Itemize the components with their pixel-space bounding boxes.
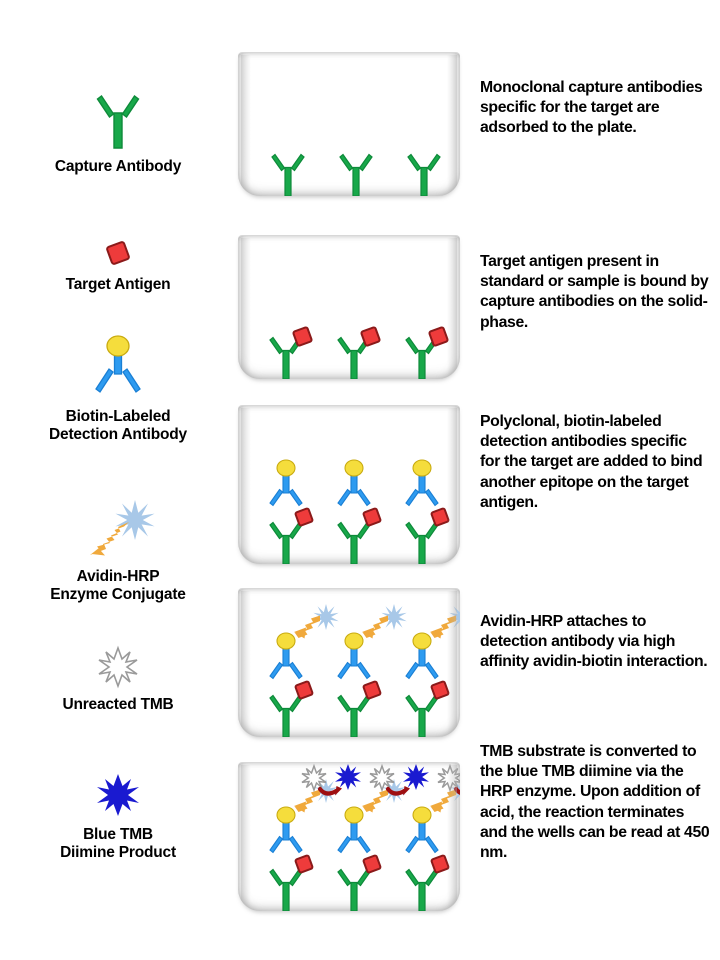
legend-item-capture-antibody: Capture Antibody xyxy=(0,78,236,176)
biotin-label-glyph xyxy=(277,460,295,476)
sandwich-complex-glyph xyxy=(256,444,326,564)
capture-antibody-icon xyxy=(0,78,236,152)
complex-tmb-3 xyxy=(388,763,460,911)
hrp-starburst-glyph xyxy=(116,500,155,540)
capture-antibody-glyph xyxy=(338,523,370,565)
biotin-label-glyph xyxy=(413,633,431,649)
biotin-label-glyph xyxy=(345,807,363,823)
legend-label-blue-tmb-diimine: Blue TMB Diimine Product xyxy=(0,826,236,862)
legend-item-blue-tmb-diimine: Blue TMB Diimine Product xyxy=(0,768,236,862)
avidin-arrow-glyph xyxy=(362,616,388,639)
well-step-4 xyxy=(238,588,460,737)
green-y-antibody-glyph xyxy=(88,88,148,152)
avidin-hrp-complex-glyph xyxy=(390,605,460,737)
well-step-1 xyxy=(238,52,460,196)
avidin-arrow-glyph xyxy=(362,790,388,813)
red-diamond-antigen-glyph xyxy=(101,236,135,270)
complex-capture-3 xyxy=(388,53,460,196)
avidin-arrow-glyph xyxy=(90,522,129,556)
sandwich-complex-glyph xyxy=(324,444,394,564)
well-step-2 xyxy=(238,235,460,379)
complex-avidin-3 xyxy=(388,589,460,737)
capture-antigen-glyph xyxy=(328,323,390,379)
step-description-1: Monoclonal capture antibodies specific f… xyxy=(480,78,710,139)
biotin-label-glyph xyxy=(277,633,295,649)
white-starburst-glyph xyxy=(95,644,141,690)
capture-antibody-glyph xyxy=(338,870,370,912)
step-description-4: Avidin-HRP attaches to detection antibod… xyxy=(480,612,710,673)
capture-antibody-glyph xyxy=(332,148,380,196)
legend-item-avidin-hrp: Avidin-HRP Enzyme Conjugate xyxy=(0,500,236,604)
capture-antibody-glyph xyxy=(338,696,370,738)
step-description-2: Target antigen present in standard or sa… xyxy=(480,252,710,333)
well-step-3 xyxy=(238,405,460,564)
capture-antibody-glyph xyxy=(400,148,448,196)
avidin-hrp-icon xyxy=(0,500,236,562)
biotin-label-glyph xyxy=(413,460,431,476)
capture-antibody-glyph xyxy=(270,870,302,912)
complex-sandwich-3 xyxy=(388,406,460,564)
tmb-reaction-complex-glyph xyxy=(388,763,460,911)
avidin-arrow-glyph xyxy=(430,790,456,813)
biotin-label-glyph xyxy=(413,807,431,823)
biotin-label-glyph xyxy=(345,460,363,476)
blue-y-antibody-biotin-glyph xyxy=(87,330,149,402)
capture-antigen-glyph xyxy=(396,323,458,379)
complex-antigen-3 xyxy=(388,236,460,379)
well-step-5 xyxy=(238,762,460,911)
orange-arrow-blue-star-glyph xyxy=(72,500,164,562)
biotin-label-glyph xyxy=(277,807,295,823)
avidin-arrow-glyph xyxy=(294,616,320,639)
capture-antibody-glyph xyxy=(270,523,302,565)
legend-label-detection-antibody: Biotin-Labeled Detection Antibody xyxy=(0,408,236,444)
avidin-arrow-glyph xyxy=(430,616,456,639)
biotin-label-glyph xyxy=(107,336,129,356)
capture-antigen-glyph xyxy=(260,323,322,379)
target-antigen-icon xyxy=(0,228,236,270)
capture-antibody-glyph xyxy=(406,870,438,912)
sandwich-complex-glyph xyxy=(392,444,460,564)
unreacted-tmb-icon xyxy=(0,640,236,690)
biotin-label-glyph xyxy=(345,633,363,649)
legend-label-avidin-hrp: Avidin-HRP Enzyme Conjugate xyxy=(0,568,236,604)
avidin-arrow-glyph xyxy=(294,790,320,813)
capture-antibody-glyph xyxy=(406,523,438,565)
legend-label-target-antigen: Target Antigen xyxy=(0,276,236,294)
detection-antibody-icon xyxy=(0,330,236,402)
legend-item-detection-antibody: Biotin-Labeled Detection Antibody xyxy=(0,330,236,444)
legend-label-capture-antibody: Capture Antibody xyxy=(0,158,236,176)
legend-item-unreacted-tmb: Unreacted TMB xyxy=(0,640,236,714)
capture-antibody-glyph xyxy=(406,696,438,738)
step-description-5: TMB substrate is converted to the blue T… xyxy=(480,742,710,863)
blue-starburst-glyph xyxy=(93,770,143,820)
capture-antibody-glyph xyxy=(270,696,302,738)
unreacted-tmb-glyph xyxy=(438,766,460,790)
step-description-3: Polyclonal, biotin-labeled detection ant… xyxy=(480,412,710,513)
blue-tmb-diimine-icon xyxy=(0,768,236,820)
legend-item-target-antigen: Target Antigen xyxy=(0,228,236,294)
legend-label-unreacted-tmb: Unreacted TMB xyxy=(0,696,236,714)
capture-antibody-glyph xyxy=(264,148,312,196)
